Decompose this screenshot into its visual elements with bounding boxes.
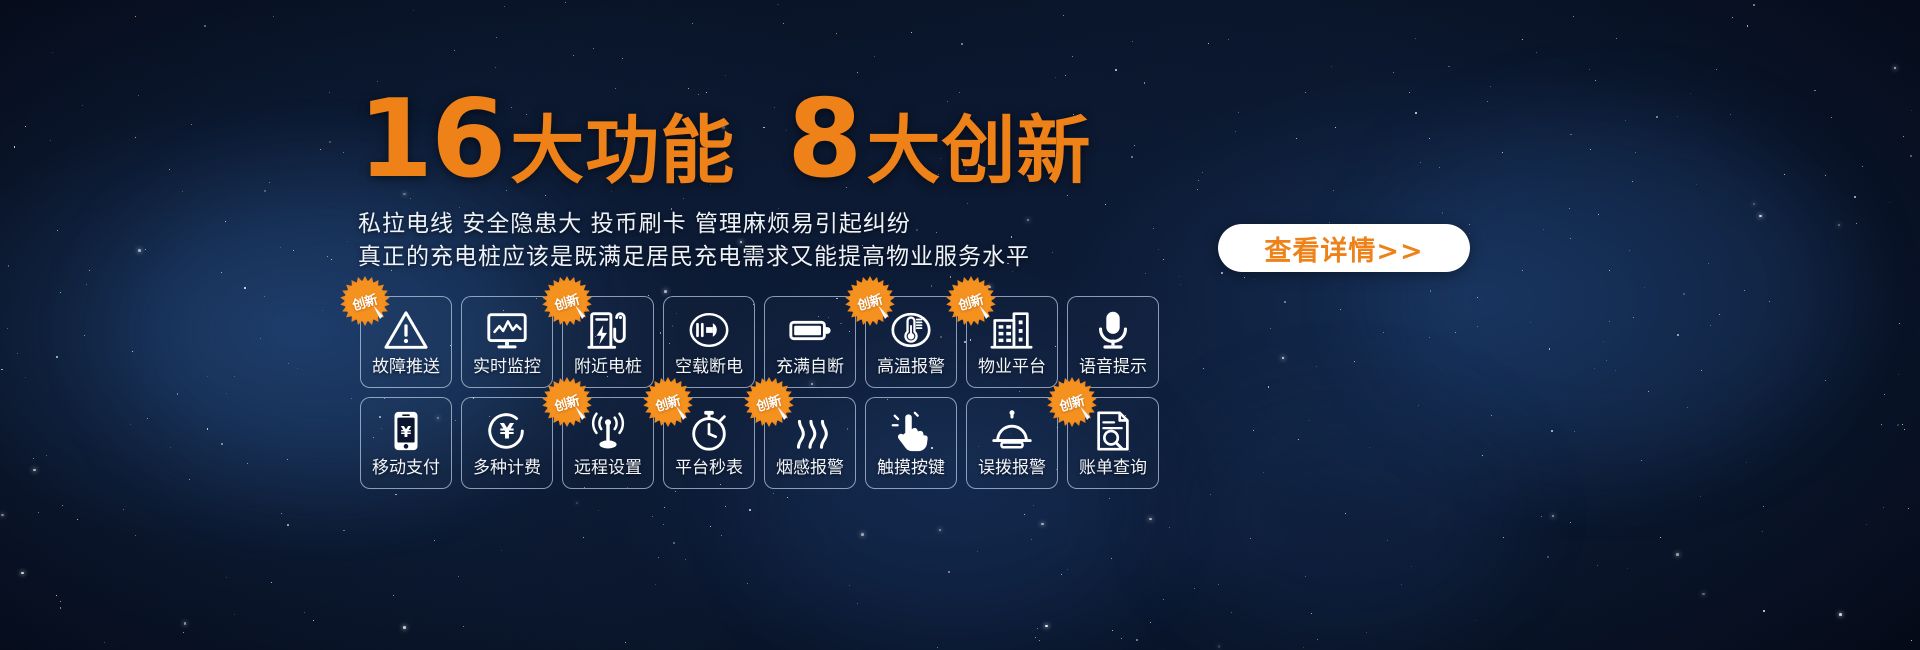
- alarm-bell-icon: [987, 406, 1037, 456]
- feature-card-building[interactable]: 创新物业平台: [966, 296, 1058, 388]
- headline-number-16: 16: [358, 86, 504, 194]
- svg-text:¥: ¥: [500, 419, 515, 444]
- mobile-payment-icon: ¥: [381, 406, 431, 456]
- feature-card-label: 多种计费: [473, 458, 541, 478]
- stopwatch-icon: [684, 406, 734, 456]
- yuan-coin-icon: ¥: [482, 406, 532, 456]
- headline-text-functions: 大功能: [510, 114, 735, 188]
- feature-card-label: 故障推送: [372, 357, 440, 377]
- promo-banner: 16 大功能 8 大创新 查看详情>> 私拉电线 安全隐患大 投币刷卡 管理麻烦…: [0, 0, 1920, 650]
- touch-hand-icon: [886, 406, 936, 456]
- feature-card-plug-disconnect[interactable]: 空载断电: [663, 296, 755, 388]
- innovation-badge-label: 创新: [350, 288, 379, 313]
- feature-card-smoke-sensor[interactable]: 创新烟感报警: [764, 397, 856, 489]
- innovation-badge-label: 创新: [754, 389, 783, 414]
- feature-card-label: 移动支付: [372, 458, 440, 478]
- feature-card-wireless-signal[interactable]: 创新远程设置: [562, 397, 654, 489]
- feature-card-battery-full[interactable]: 充满自断: [764, 296, 856, 388]
- headline-number-8: 8: [787, 86, 860, 194]
- feature-card-yuan-coin[interactable]: ¥多种计费: [461, 397, 553, 489]
- feature-card-label: 充满自断: [776, 357, 844, 377]
- feature-card-label: 账单查询: [1079, 458, 1147, 478]
- feature-card-bill-search[interactable]: 创新账单查询: [1067, 397, 1159, 489]
- feature-card-microphone[interactable]: 语音提示: [1067, 296, 1159, 388]
- feature-card-monitor-waveform[interactable]: 实时监控: [461, 296, 553, 388]
- feature-card-label: 物业平台: [978, 357, 1046, 377]
- feature-card-label: 烟感报警: [776, 458, 844, 478]
- feature-card-label: 附近电桩: [574, 357, 642, 377]
- feature-card-label: 远程设置: [574, 458, 642, 478]
- innovation-badge-label: 创新: [1057, 389, 1086, 414]
- feature-grid: 创新故障推送实时监控创新附近电桩空载断电充满自断创新高温报警创新物业平台语音提示…: [360, 296, 1159, 489]
- feature-card-label: 空载断电: [675, 357, 743, 377]
- page-title: 16 大功能 8 大创新: [358, 86, 1091, 194]
- innovation-badge-label: 创新: [855, 288, 884, 313]
- subtitle-block: 私拉电线 安全隐患大 投币刷卡 管理麻烦易引起纠纷 真正的充电桩应该是既满足居民…: [358, 208, 1030, 274]
- charging-pile-icon: [583, 305, 633, 355]
- thermometer-icon: [886, 305, 936, 355]
- svg-text:¥: ¥: [401, 423, 412, 441]
- headline-text-innovations: 大创新: [866, 114, 1091, 188]
- feature-row-2: ¥移动支付¥多种计费创新远程设置创新平台秒表创新烟感报警触摸按键误拨报警创新账单…: [360, 397, 1159, 489]
- feature-card-label: 平台秒表: [675, 458, 743, 478]
- subtitle-line-1: 私拉电线 安全隐患大 投币刷卡 管理麻烦易引起纠纷: [358, 208, 1030, 241]
- feature-card-label: 误拨报警: [978, 458, 1046, 478]
- feature-card-mobile-payment[interactable]: ¥移动支付: [360, 397, 452, 489]
- feature-card-thermometer[interactable]: 创新高温报警: [865, 296, 957, 388]
- feature-card-touch-hand[interactable]: 触摸按键: [865, 397, 957, 489]
- battery-full-icon: [785, 305, 835, 355]
- microphone-icon: [1088, 305, 1138, 355]
- innovation-badge-label: 创新: [956, 288, 985, 313]
- building-icon: [987, 305, 1037, 355]
- nebula-glow: [1180, 400, 1510, 630]
- wireless-signal-icon: [583, 406, 633, 456]
- monitor-waveform-icon: [482, 305, 532, 355]
- feature-card-warning-triangle[interactable]: 创新故障推送: [360, 296, 452, 388]
- innovation-badge-label: 创新: [552, 288, 581, 313]
- innovation-badge-label: 创新: [552, 389, 581, 414]
- nebula-glow: [1380, 120, 1840, 460]
- feature-card-label: 触摸按键: [877, 458, 945, 478]
- feature-card-label: 高温报警: [877, 357, 945, 377]
- smoke-sensor-icon: [785, 406, 835, 456]
- feature-card-alarm-bell[interactable]: 误拨报警: [966, 397, 1058, 489]
- warning-triangle-icon: [381, 305, 431, 355]
- feature-card-charging-pile[interactable]: 创新附近电桩: [562, 296, 654, 388]
- innovation-badge-label: 创新: [653, 389, 682, 414]
- plug-disconnect-icon: [684, 305, 734, 355]
- bill-search-icon: [1088, 406, 1138, 456]
- feature-card-stopwatch[interactable]: 创新平台秒表: [663, 397, 755, 489]
- view-details-button[interactable]: 查看详情>>: [1218, 224, 1470, 272]
- feature-card-label: 实时监控: [473, 357, 541, 377]
- feature-row-1: 创新故障推送实时监控创新附近电桩空载断电充满自断创新高温报警创新物业平台语音提示: [360, 296, 1159, 388]
- subtitle-line-2: 真正的充电桩应该是既满足居民充电需求又能提高物业服务水平: [358, 241, 1030, 274]
- feature-card-label: 语音提示: [1079, 357, 1147, 377]
